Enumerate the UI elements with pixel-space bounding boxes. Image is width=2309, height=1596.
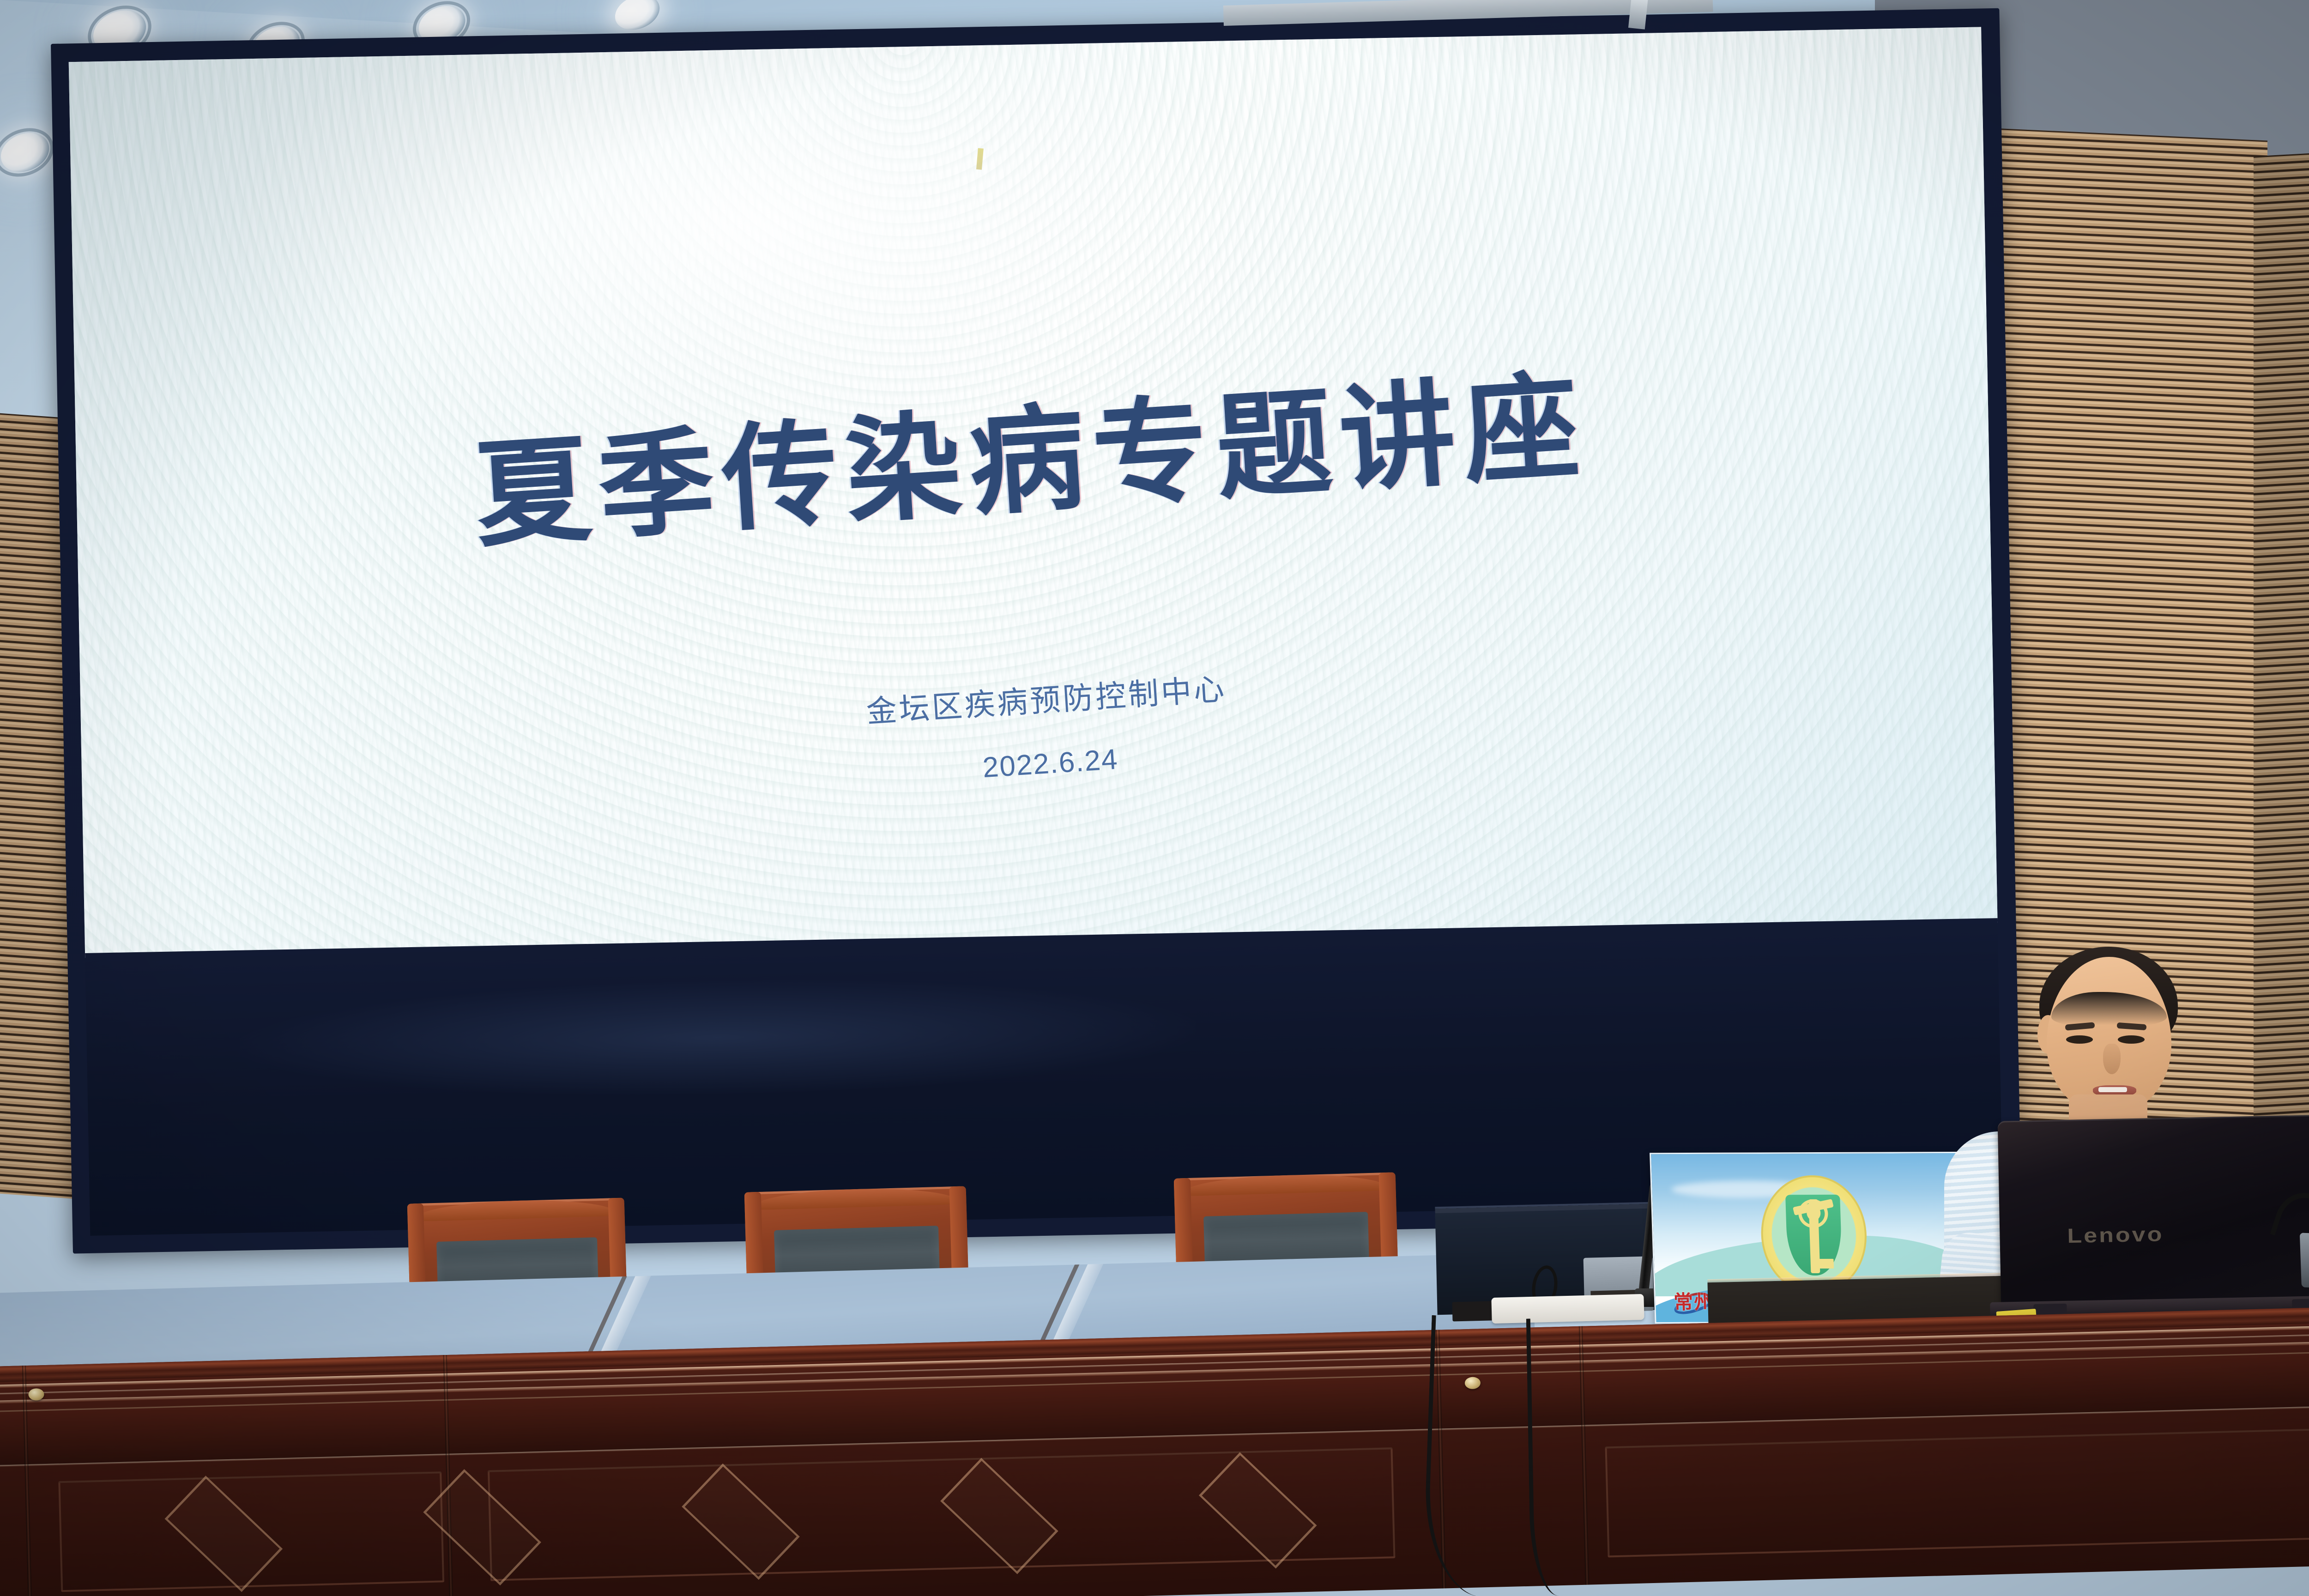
- usb-hub: [2300, 1233, 2309, 1289]
- laptop-brand-label: Lenovo: [2067, 1222, 2164, 1248]
- screen-surface: 夏季传染病专题讲座 金坛区疾病预防控制中心 2022.6.24: [69, 27, 1998, 958]
- logo-key-teeth: [1819, 1259, 1834, 1269]
- presenter-teeth: [2098, 1087, 2127, 1092]
- projection-screen: 夏季传染病专题讲座 金坛区疾病预防控制中心 2022.6.24: [51, 8, 2021, 1254]
- slide-title: 夏季传染病专题讲座: [71, 306, 1990, 595]
- podium-panel-3: [1605, 1427, 2309, 1558]
- slide-content: 夏季传染病专题讲座 金坛区疾病预防控制中心 2022.6.24: [69, 27, 1998, 958]
- laptop-lid: [1998, 1114, 2309, 1306]
- podium-seam-4: [1579, 1326, 1589, 1585]
- presenter-eye-right: [2118, 1035, 2145, 1044]
- presenter-nose: [2103, 1044, 2121, 1074]
- screen-bracket-clip: [1628, 0, 1648, 30]
- podium-brass-screw-1: [28, 1388, 44, 1401]
- power-strip: [1491, 1294, 1644, 1324]
- laptop[interactable]: Lenovo: [1998, 1114, 2309, 1333]
- laptop-foot-left: [2033, 1304, 2067, 1314]
- screen-lower-sheen: [239, 973, 1197, 1103]
- presenter-eye-left: [2066, 1035, 2093, 1044]
- conference-room-photo: 夏季传染病专题讲座 金坛区疾病预防控制中心 2022.6.24: [0, 0, 2309, 1596]
